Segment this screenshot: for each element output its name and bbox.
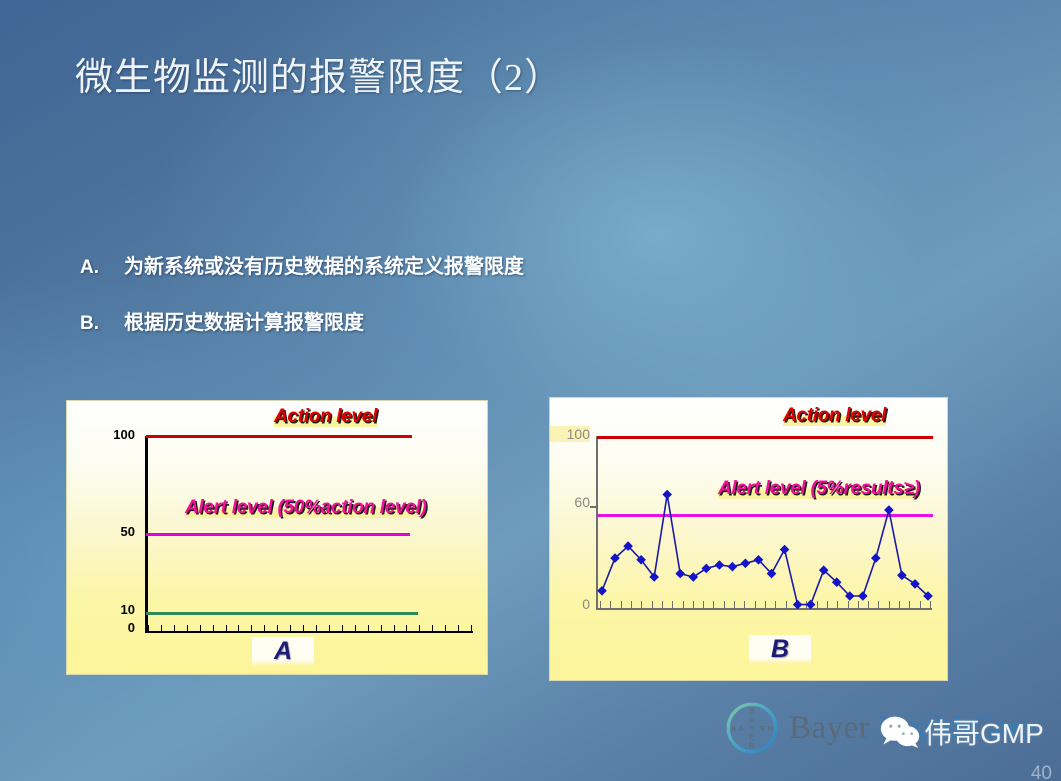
chart-a-tick: [148, 625, 149, 633]
chart-a-action-level-label: Action level: [274, 406, 377, 428]
chart-a-tick: [187, 625, 188, 633]
chart-a-letter: A: [252, 637, 314, 666]
chart-a-tick: [264, 625, 265, 633]
svg-text:R: R: [749, 741, 755, 751]
chart-b-action-level-label: Action level: [783, 405, 886, 427]
chart-a-action-level-line: [146, 435, 412, 438]
svg-text:E: E: [760, 724, 765, 733]
chart-b-data-point: [715, 560, 725, 570]
chart-panel-a: 100 50 10 0 Action level Alert level (50…: [66, 400, 488, 675]
page-title: 微生物监测的报警限度（2）: [75, 46, 563, 101]
chart-panel-b: 100 60 0 Action level Alert level (5%res…: [549, 397, 948, 681]
bullet-item-b: B. 根据历史数据计算报警限度: [80, 306, 364, 335]
chart-b-data-point: [701, 564, 711, 574]
chart-a-tick: [406, 625, 407, 633]
chart-a-tick: [200, 625, 201, 633]
chart-b-series-line: [602, 495, 928, 605]
chart-a-plot-area: 100 50 10 0 Action level Alert level (50…: [67, 401, 487, 674]
chart-a-tick: [238, 625, 239, 633]
chart-a-tick: [394, 625, 395, 633]
bullet-text-b: 根据历史数据计算报警限度: [124, 306, 364, 335]
chart-a-baseline-level-line: [146, 612, 418, 615]
chart-a-tick: [381, 625, 382, 633]
chart-b-data-point: [806, 600, 816, 610]
chart-b-data-point: [780, 545, 790, 555]
chart-a-tick: [174, 625, 175, 633]
chart-b-plot-area: 100 60 0 Action level Alert level (5%res…: [550, 398, 947, 680]
chart-a-alert-level-line: [146, 533, 410, 536]
chart-a-ylabel-0: 0: [89, 620, 135, 635]
chart-a-tick: [251, 625, 252, 633]
bayer-wordmark: Bayer: [789, 710, 870, 747]
chart-b-data-point: [741, 558, 751, 568]
chart-b-data-point: [675, 569, 685, 579]
bayer-cross-icon: B A Y E R B A E R: [725, 701, 779, 755]
chart-a-tick: [432, 625, 433, 633]
chart-a-tick: [368, 625, 369, 633]
chart-b-data-point: [728, 562, 738, 572]
chart-b-data-point: [662, 490, 672, 500]
wechat-icon: [880, 715, 920, 749]
chart-b-data-point: [884, 505, 894, 515]
chart-a-tick: [355, 625, 356, 633]
chart-b-data-point: [897, 570, 907, 580]
chart-a-ylabel-50: 50: [89, 524, 135, 539]
bullet-item-a: A. 为新系统或没有历史数据的系统定义报警限度: [80, 250, 524, 279]
chart-a-tick: [303, 625, 304, 633]
bullet-marker-b: B.: [80, 313, 124, 335]
chart-a-x-axis: [145, 631, 473, 633]
chart-a-tick: [419, 625, 420, 633]
chart-a-tick: [342, 625, 343, 633]
chart-a-tick: [277, 625, 278, 633]
svg-text:R: R: [768, 724, 774, 733]
svg-text:B: B: [731, 724, 736, 733]
slide-canvas: 微生物监测的报警限度（2） A. 为新系统或没有历史数据的系统定义报警限度 B.…: [0, 0, 1061, 781]
chart-b-data-point: [793, 600, 803, 610]
chart-a-tick: [226, 625, 227, 633]
chart-b-data-point: [871, 553, 881, 563]
chart-b-letter: B: [749, 635, 811, 664]
chart-a-tick: [213, 625, 214, 633]
bullet-marker-a: A.: [80, 257, 124, 279]
bullet-text-a: 为新系统或没有历史数据的系统定义报警限度: [124, 250, 524, 279]
chart-a-ylabel-10: 10: [89, 602, 135, 617]
watermark-text: 伟哥GMP: [924, 712, 1044, 752]
wechat-watermark: 伟哥GMP: [880, 712, 1044, 752]
chart-a-tick: [161, 625, 162, 633]
chart-a-tick: [471, 625, 472, 633]
chart-b-data-point: [597, 586, 607, 596]
chart-b-alert-level-label: Alert level (5%results≥): [718, 478, 920, 500]
chart-a-tick: [290, 625, 291, 633]
svg-text:A: A: [739, 724, 745, 733]
page-number: 40: [1031, 763, 1052, 781]
chart-a-tick: [445, 625, 446, 633]
chart-a-alert-level-label: Alert level (50%action level): [185, 497, 427, 519]
chart-a-tick: [458, 625, 459, 633]
chart-b-data-point: [858, 591, 868, 601]
chart-a-tick: [316, 625, 317, 633]
chart-a-ylabel-100: 100: [89, 427, 135, 442]
chart-b-data-point: [688, 572, 698, 582]
chart-a-tick: [329, 625, 330, 633]
